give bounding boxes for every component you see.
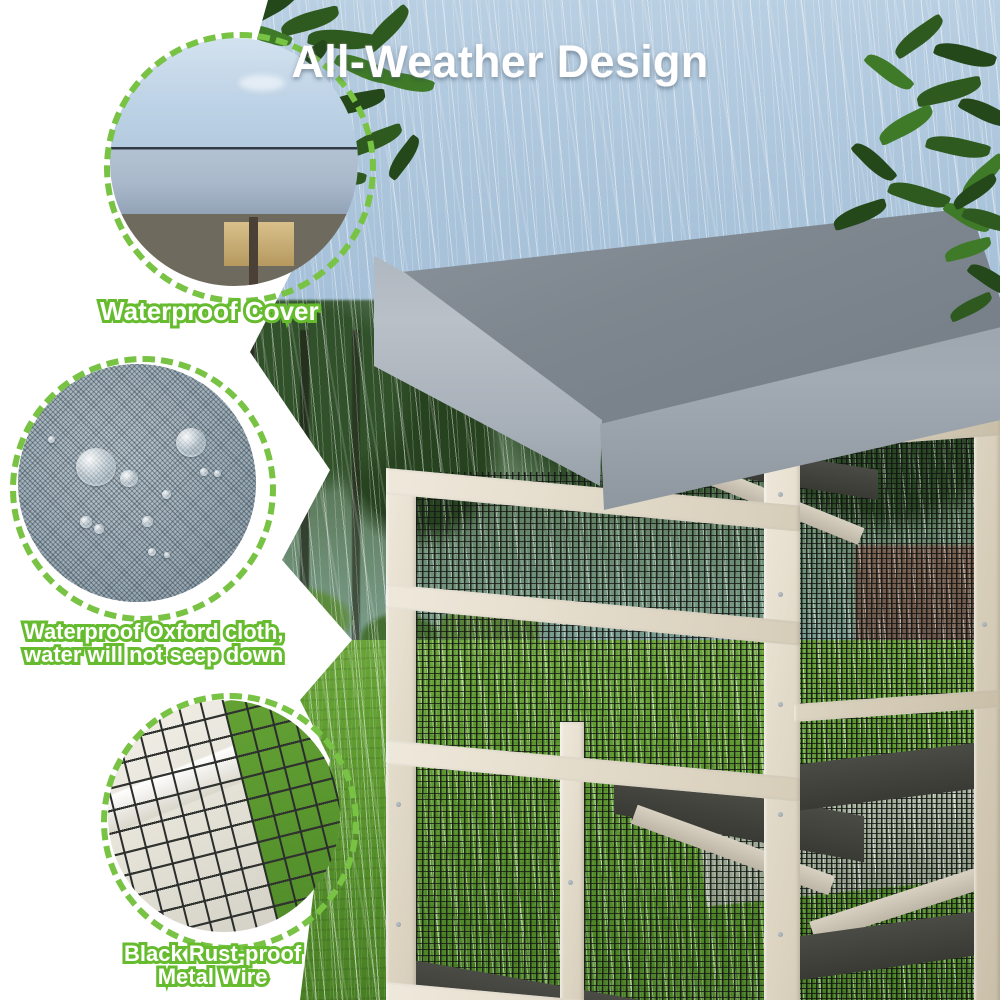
screw bbox=[982, 622, 987, 627]
screw bbox=[396, 922, 401, 927]
front-left-post bbox=[386, 474, 416, 1000]
screw bbox=[778, 812, 783, 817]
caption-oxford-cloth: Waterproof Oxford cloth, water will not … bbox=[24, 620, 284, 666]
headline: All-Weather Design bbox=[0, 36, 1000, 88]
screw bbox=[778, 702, 783, 707]
catio-enclosure bbox=[378, 192, 1000, 1000]
inset2-dashed-ring bbox=[10, 356, 276, 622]
inset3-dashed-ring bbox=[101, 693, 359, 951]
promo-image: All-Weather Design Waterproof Cover Wate… bbox=[0, 0, 1000, 1000]
caption-waterproof-cover: Waterproof Cover bbox=[100, 298, 319, 325]
caption-metal-wire: Black Rust-proof Metal Wire bbox=[124, 942, 301, 988]
screw bbox=[778, 592, 783, 597]
front-mesh-panel bbox=[386, 472, 798, 1000]
screw bbox=[778, 492, 783, 497]
screw bbox=[778, 932, 783, 937]
screw bbox=[396, 802, 401, 807]
screw bbox=[568, 880, 573, 885]
